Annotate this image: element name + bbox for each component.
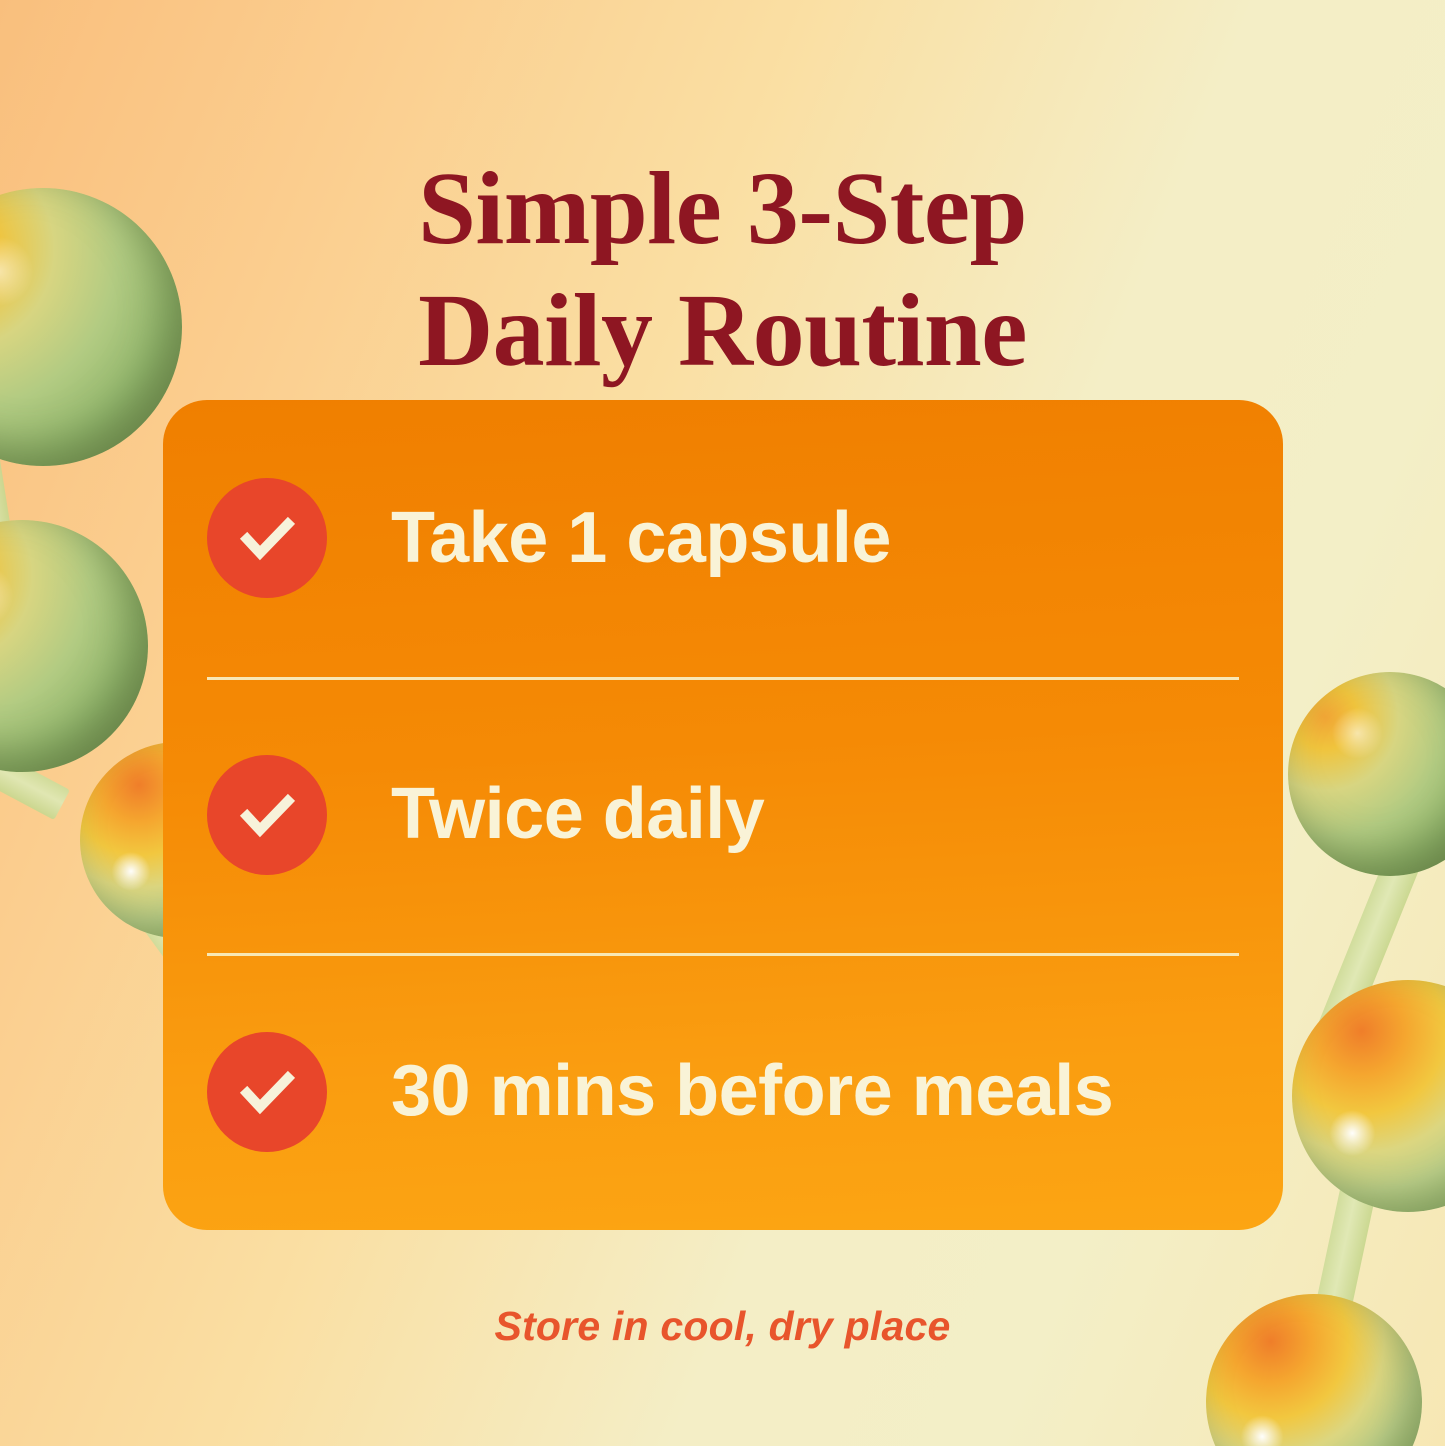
routine-step-3-label: 30 mins before meals: [391, 1054, 1113, 1130]
molecule-sphere-right-mid: [1292, 980, 1445, 1212]
molecule-sphere-mid-left: [0, 520, 148, 772]
page-title: Simple 3-Step Daily Routine: [0, 148, 1445, 393]
check-icon: [207, 478, 327, 598]
check-icon: [207, 755, 327, 875]
daily-routine-card: Take 1 capsule Twice daily 30 mins befor…: [163, 400, 1283, 1230]
molecule-rod-left-upper: [0, 429, 48, 770]
poster-canvas: Simple 3-Step Daily Routine Take 1 capsu…: [0, 0, 1445, 1446]
check-icon: [207, 1032, 327, 1152]
routine-step-2-label: Twice daily: [391, 777, 764, 853]
routine-step-1: Take 1 capsule: [207, 400, 1239, 677]
routine-step-1-label: Take 1 capsule: [391, 501, 891, 577]
routine-step-2: Twice daily: [207, 677, 1239, 954]
molecule-rod-right-upper: [1298, 840, 1425, 1085]
molecule-rod-left-mid: [0, 649, 70, 820]
storage-note: Store in cool, dry place: [0, 1303, 1445, 1350]
molecule-sphere-right-upper: [1288, 672, 1445, 876]
routine-step-3: 30 mins before meals: [207, 953, 1239, 1230]
